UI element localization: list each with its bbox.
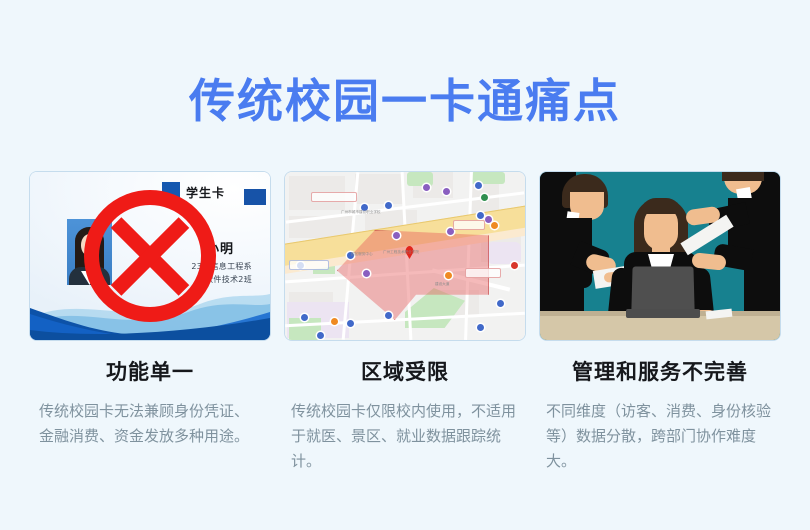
office-thumbnail [540,172,780,340]
map-poi-marker [485,216,492,223]
laptop-base [626,309,700,318]
map-label-text: 园区服务中心 [351,252,373,257]
pain-point-card-list: 学生卡 小明 23级信息工程系 软件技术2班 [0,172,810,474]
student-card-thumbnail: 学生卡 小明 23级信息工程系 软件技术2班 [30,172,270,340]
map-poi-marker [363,270,370,277]
pain-point-card-function-single: 学生卡 小明 23级信息工程系 软件技术2班 [27,172,273,474]
map-poi-marker [347,320,354,327]
map-label-text: 广州市城市建设职业学校 [341,210,381,215]
map-poi-marker [475,182,482,189]
pain-point-card-area-limited: 广州市城市建设职业学校 广州工程技术职业学院 园区服务中心 建设大道 区域受限 … [282,172,528,474]
map-poi-marker [511,262,518,269]
map-poi-marker [443,188,450,195]
map-poi-marker [481,194,488,201]
map-label-chip [465,268,501,278]
map-area-purple [487,242,521,264]
office-illustration [540,172,780,340]
map-park [407,172,433,186]
map-label-text: 广州工程技术职业学院 [383,250,419,255]
map-poi-marker [477,324,484,331]
map-poi-marker [385,312,392,319]
map-illustration: 广州市城市建设职业学校 广州工程技术职业学院 园区服务中心 建设大道 [285,172,525,340]
laptop-screen [631,267,694,311]
center-person-fringe [640,198,682,214]
right-person-hair [722,172,764,181]
pain-point-card-management-service: 管理和服务不完善 不同维度（访客、消费、身份核验等）数据分散，跨部门协作难度大。 [537,172,783,474]
map-label-chip [453,220,485,230]
map-poi-marker [385,202,392,209]
card-description: 传统校园卡无法兼顾身份凭证、金融消费、资金发放多种用途。 [39,399,261,449]
card-heading: 区域受限 [361,356,449,386]
student-card-illustration: 学生卡 小明 23级信息工程系 软件技术2班 [30,172,270,340]
map-poi-marker [477,212,484,219]
map-poi-marker [331,318,338,325]
card-description: 传统校园卡仅限校内使用，不适用于就医、景区、就业数据跟踪统计。 [291,399,519,474]
card-heading: 功能单一 [106,356,194,386]
map-block [355,174,403,204]
map-poi-marker [393,232,400,239]
card-description: 不同维度（访客、消费、身份核验等）数据分散，跨部门协作难度大。 [546,399,774,474]
map-label-chip [289,260,329,270]
slide-root: 传统校园一卡通痛点 [0,0,810,530]
map-label-text: 建设大道 [435,282,449,287]
no-entry-cross-icon [84,190,216,322]
map-park [289,318,321,340]
map-poi-marker [445,272,452,279]
map-thumbnail: 广州市城市建设职业学校 广州工程技术职业学院 园区服务中心 建设大道 [285,172,525,340]
card-heading: 管理和服务不完善 [572,356,748,386]
map-poi-marker [423,184,430,191]
map-poi-marker [317,332,324,339]
map-label-chip [311,192,357,202]
map-poi-marker [301,314,308,321]
page-title: 传统校园一卡通痛点 [0,78,810,124]
student-card-accent-block-right [244,189,266,205]
map-poi-marker [491,222,498,229]
map-poi-marker [497,300,504,307]
